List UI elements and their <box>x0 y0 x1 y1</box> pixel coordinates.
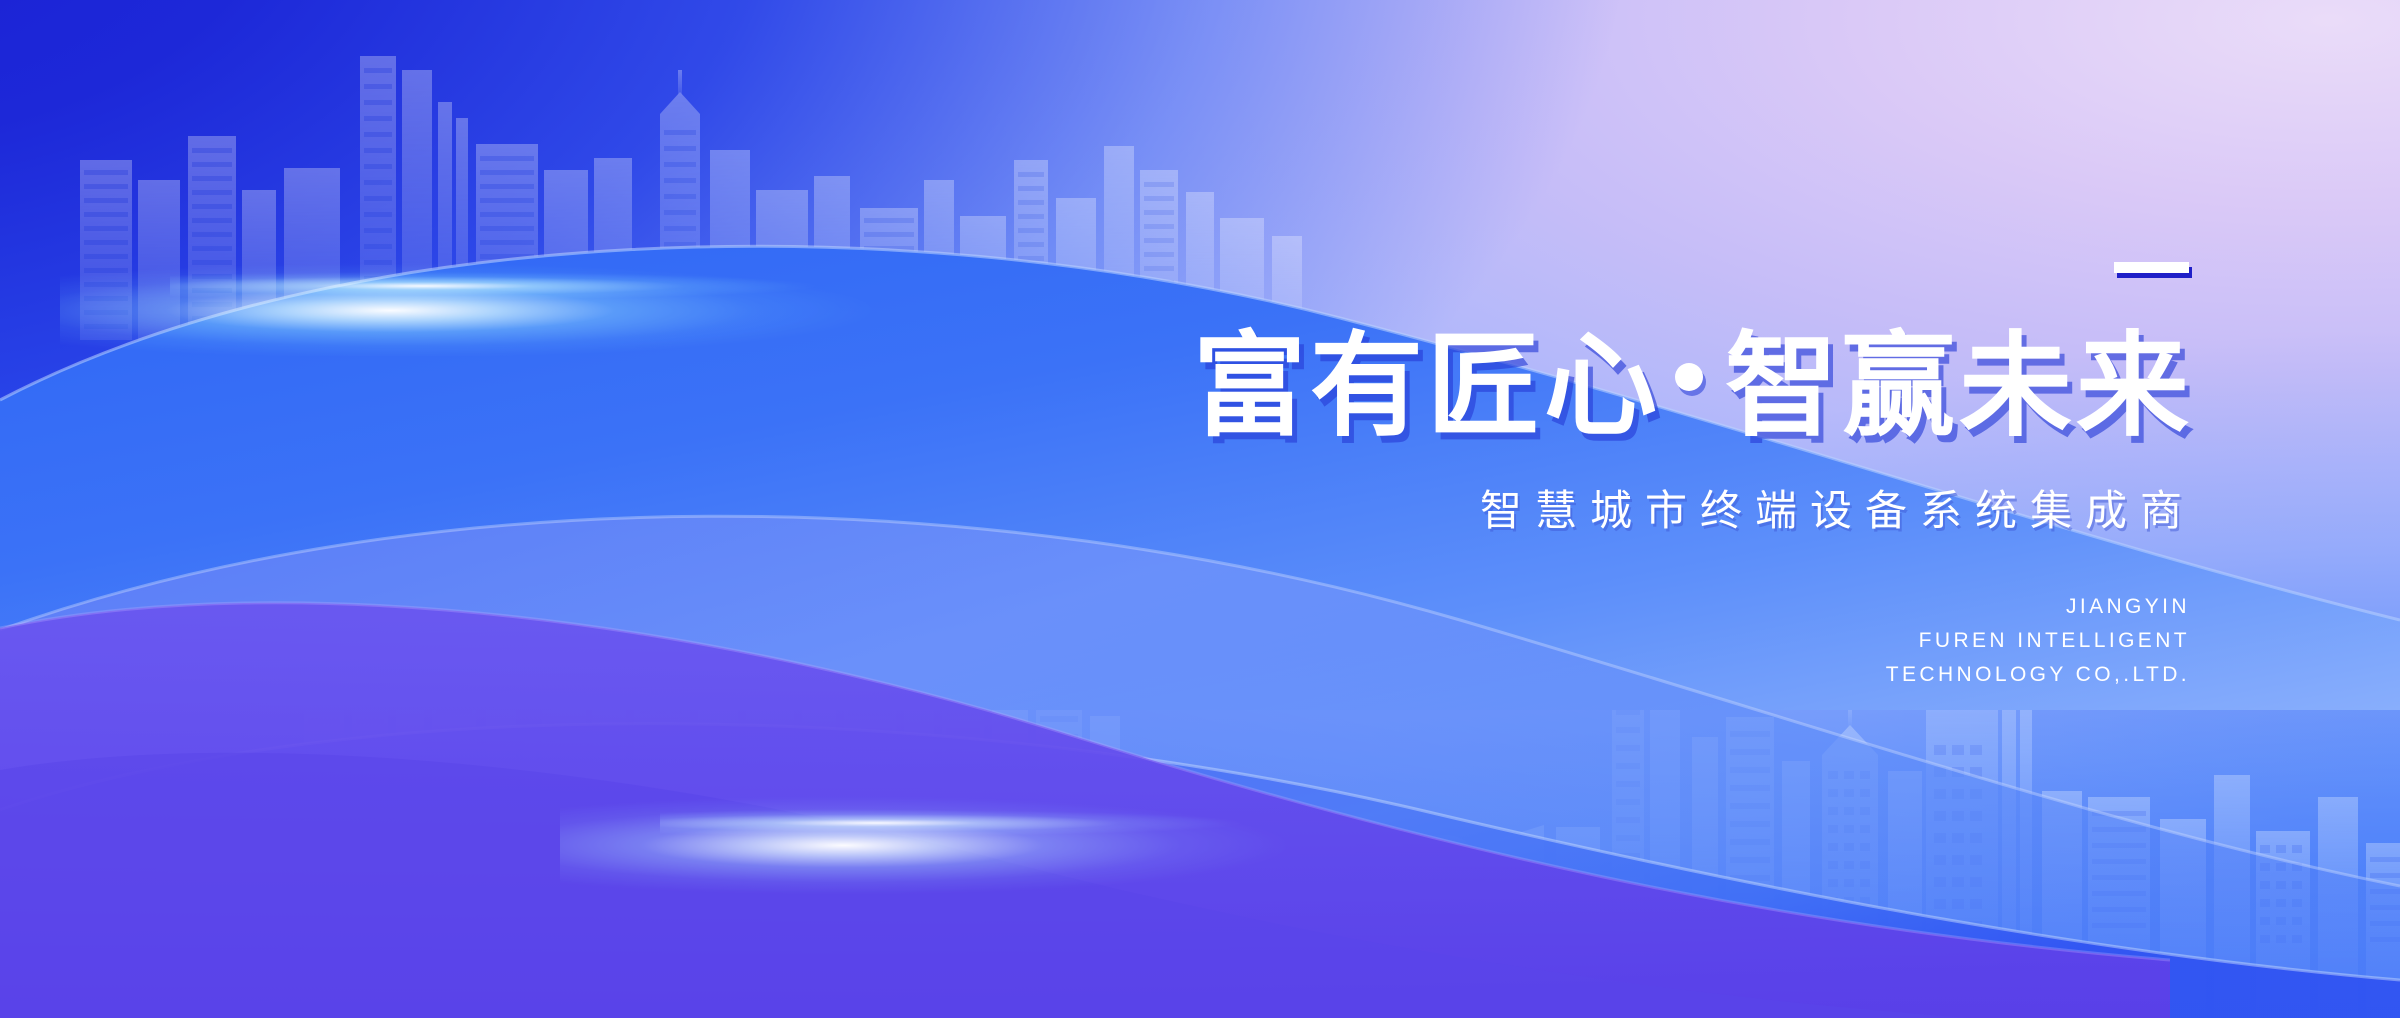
company-name-block: JIANGYIN FUREN INTELLIGENT TECHNOLOGY CO… <box>1055 590 2195 692</box>
headline-separator-dot-icon <box>1675 363 1703 391</box>
horizontal-dash-icon <box>2114 262 2189 273</box>
page-subtitle: 智慧城市终端设备系统集成商 <box>1055 477 2195 538</box>
promotional-banner: 富有匠心智赢未来 智慧城市终端设备系统集成商 JIANGYIN FUREN IN… <box>0 0 2400 1018</box>
company-line-1: JIANGYIN <box>1055 590 2190 624</box>
accent-dash-row <box>1055 262 2195 330</box>
headline-part-2: 智赢未来 <box>1725 323 2193 449</box>
headline-text-block: 富有匠心智赢未来 智慧城市终端设备系统集成商 JIANGYIN FUREN IN… <box>1055 262 2195 692</box>
company-line-3: TECHNOLOGY CO,.LTD. <box>1055 658 2190 692</box>
page-title: 富有匠心智赢未来 <box>1055 330 2195 443</box>
company-line-2: FUREN INTELLIGENT <box>1055 624 2190 658</box>
headline-part-1: 富有匠心 <box>1193 323 1661 449</box>
